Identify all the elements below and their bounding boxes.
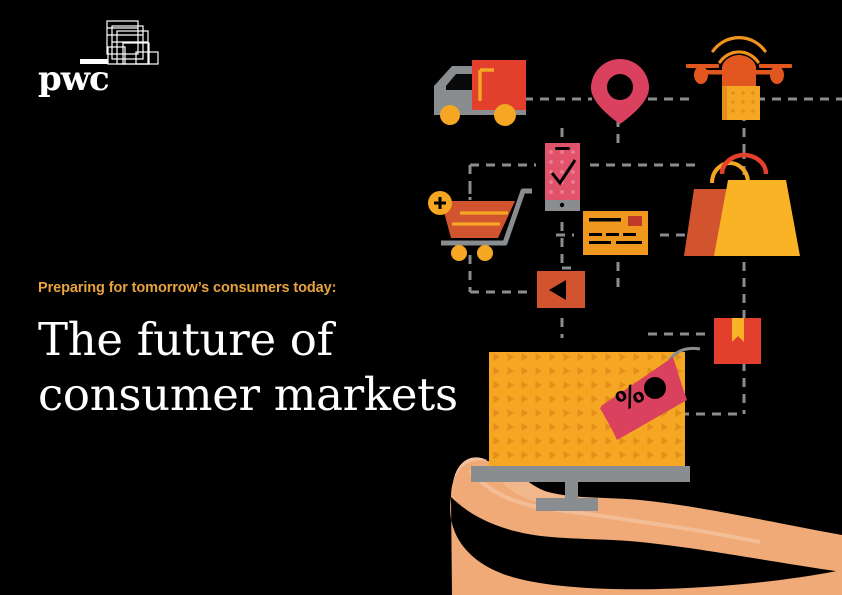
delivery-drone-icon [686, 38, 792, 120]
delivery-truck-icon [434, 60, 526, 126]
pwc-wordmark: pwc [38, 62, 109, 96]
headline-block: Preparing for tomorrow’s consumers today… [38, 280, 458, 423]
title-line-2: consumer markets [38, 368, 458, 421]
cover-page: % pwc Preparing for tomorrow’s c [0, 0, 842, 595]
title-line-1: The future of [38, 313, 333, 366]
parcel-box-icon [714, 318, 761, 364]
location-pin-icon [591, 59, 649, 124]
shopping-cart-icon [428, 191, 532, 261]
media-play-icon [537, 271, 585, 308]
smartphone-checkmark-icon [545, 143, 580, 211]
shopping-bags-icon [684, 155, 800, 256]
eyebrow-text: Preparing for tomorrow’s consumers today… [38, 280, 458, 297]
page-title: The future of consumer markets [38, 313, 458, 423]
pwc-logo: pwc [36, 18, 186, 98]
credit-card-icon [583, 211, 648, 255]
